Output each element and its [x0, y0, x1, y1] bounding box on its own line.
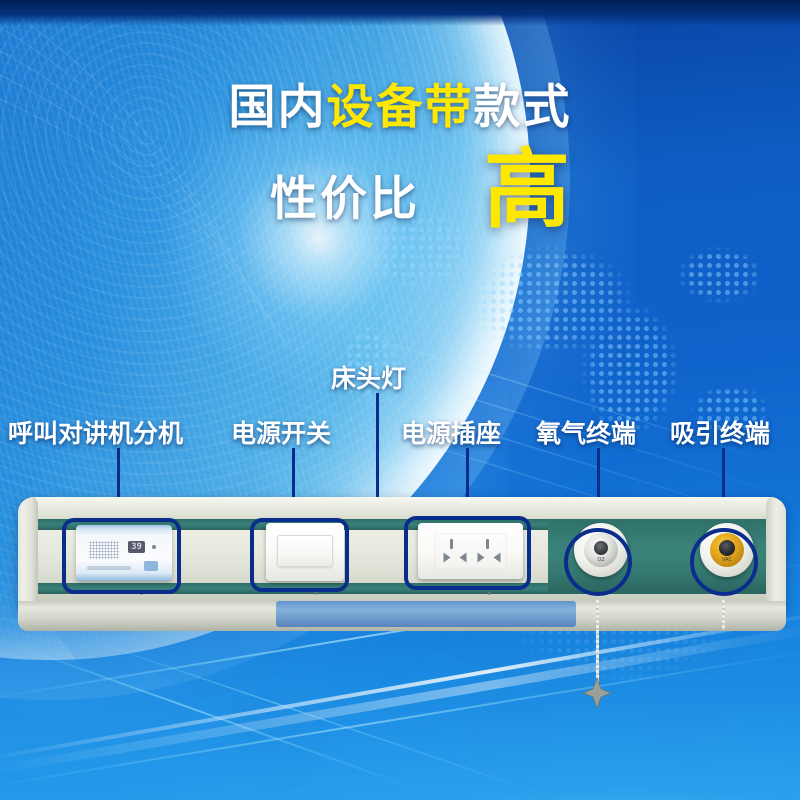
bed-lamp-diffuser [276, 601, 576, 627]
highlight-power-switch [250, 518, 349, 592]
headline-value-text: 性价比 [270, 160, 420, 229]
highlight-oxygen [564, 528, 632, 596]
panel-screw [314, 592, 317, 595]
panel-top-bevel [18, 497, 786, 519]
headline-gao-text: 高 [484, 152, 570, 229]
poster-canvas: 国内设备带款式 性价比 高 呼叫对讲机分机 电源开关 床头灯 电源插座 氧气终端… [0, 0, 800, 800]
headline-line-2: 性价比 高 [0, 156, 800, 233]
callout-label-bed-lamp: 床头灯 [331, 359, 406, 395]
highlight-power-socket [404, 516, 531, 590]
highlight-suction [690, 528, 758, 596]
highlight-nurse-call [62, 518, 181, 594]
panel-end-cap-left [18, 497, 38, 615]
oxygen-pull-cord[interactable] [596, 600, 599, 682]
callout-label-power-switch: 电源开关 [231, 414, 331, 450]
panel-end-cap-right [766, 497, 786, 615]
panel-screw [488, 592, 491, 595]
panel-teal-edge [548, 519, 556, 594]
headline-block: 国内设备带款式 性价比 高 [0, 82, 800, 233]
callout-label-suction: 吸引终端 [670, 414, 770, 450]
callout-label-nurse-call: 呼叫对讲机分机 [8, 414, 183, 450]
headline-seg-1: 国内 [229, 80, 327, 135]
top-dark-band [0, 0, 800, 26]
pull-cord-toggle[interactable] [582, 676, 612, 710]
callout-label-power-socket: 电源插座 [401, 414, 501, 450]
suction-pull-cord[interactable] [722, 600, 725, 630]
headline-seg-3: 款式 [474, 80, 572, 135]
callout-label-oxygen: 氧气终端 [536, 414, 636, 450]
headline-line-1: 国内设备带款式 [0, 82, 800, 134]
headline-seg-2: 设备带 [327, 80, 474, 135]
